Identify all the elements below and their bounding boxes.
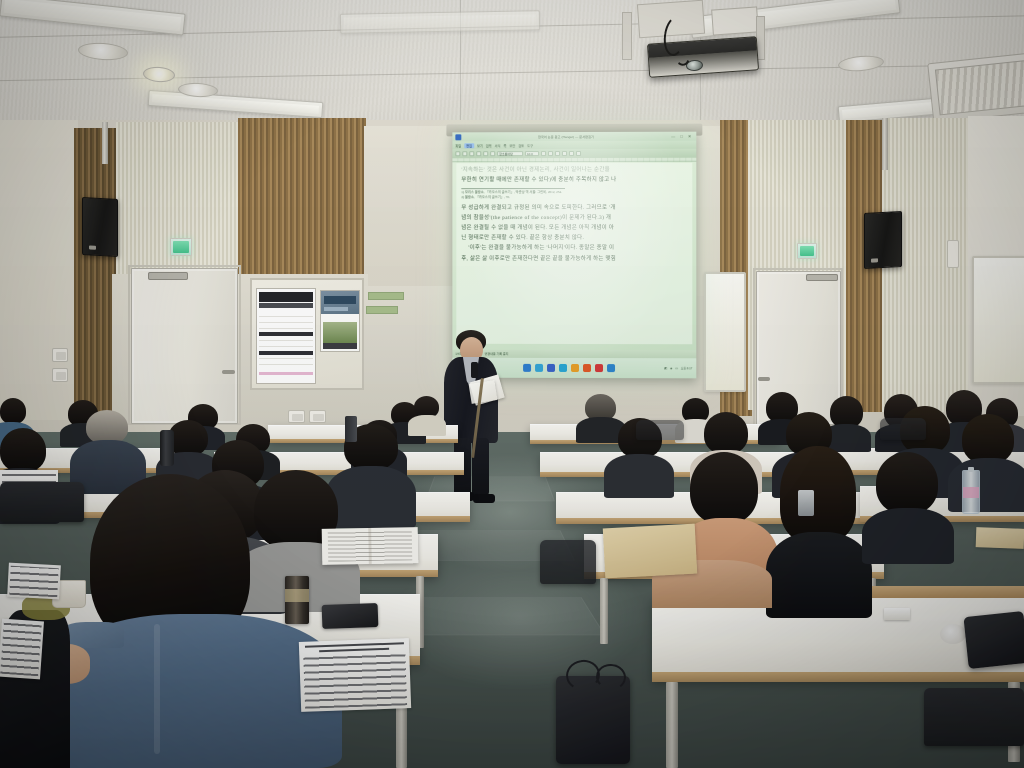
- doc-line: 무한히 연기할 때에만 존재할 수 있다)에 충분히 주목하지 않고 나: [461, 175, 687, 186]
- speaker-pole: [102, 122, 108, 164]
- doc-line: 후, 삶은 삶 이후로만 존재한다면 끝은 끝을 불가능하게 하는 맺힘: [461, 254, 687, 264]
- kraft-envelope: [603, 524, 697, 579]
- attendee-shoulders: [948, 458, 1024, 512]
- wall-plate-right: [947, 240, 959, 268]
- sticky-label: [366, 306, 398, 314]
- crumpled-tissue: [940, 624, 966, 644]
- new-doc-icon[interactable]: [455, 151, 460, 156]
- attendee-hair: [962, 414, 1014, 464]
- chair[interactable]: [0, 482, 84, 522]
- projector-mount-plate: [711, 6, 759, 35]
- microphone: [471, 362, 478, 378]
- door-handle-left[interactable]: [222, 370, 235, 374]
- attendee-hair: [86, 410, 128, 444]
- battery-icon[interactable]: ▭: [675, 366, 678, 370]
- shoulder-bag: [963, 611, 1024, 669]
- desk-leg: [666, 682, 678, 768]
- font-family-select[interactable]: 함초롬바탕: [497, 151, 523, 156]
- attendee-shoulders: [604, 454, 674, 498]
- footnote: 2) 블랑쇼, 「카오스의 글쓰기」, 70.: [461, 195, 687, 200]
- black-tumbler: [345, 416, 357, 442]
- chrome-icon[interactable]: [583, 364, 591, 372]
- doc-line: 념의 참을성'(the patience of the concept)이 문제…: [461, 213, 687, 223]
- wall-outlet[interactable]: [52, 348, 68, 362]
- print-icon[interactable]: [476, 151, 481, 156]
- air-conditioner-vent: [927, 51, 1024, 123]
- wall-outlet[interactable]: [309, 410, 326, 423]
- attendee-hair: [876, 452, 938, 514]
- wall-outlet[interactable]: [52, 368, 68, 382]
- ruler: [452, 158, 696, 163]
- lecture-hall-photo: 한국어 논문 원고 (Hangul) — 문서편집기 — □ ✕ 파일 편집 보…: [0, 0, 1024, 768]
- open-book: [322, 527, 419, 565]
- printed-handout: [299, 638, 411, 712]
- taskbar-clock[interactable]: 오후 8:17: [681, 366, 692, 370]
- door-handle-right[interactable]: [758, 377, 770, 381]
- app-logo-icon: [455, 134, 461, 140]
- water-bottle: [962, 470, 980, 514]
- menu-item-7[interactable]: 검토: [518, 143, 524, 148]
- menu-item-6[interactable]: 보안: [509, 143, 515, 148]
- menu-item-2[interactable]: 보기: [477, 143, 483, 148]
- doc-line: 념은 완결될 수 없을 때 개념이 된다. 모든 개념은 아직 개념이 아: [461, 223, 687, 233]
- desk-leg: [600, 578, 608, 644]
- align-center-icon[interactable]: [569, 151, 574, 156]
- kraft-envelope: [976, 527, 1024, 549]
- plastic-cup: [798, 490, 814, 516]
- speaker-pole: [882, 118, 888, 170]
- attendee-hair: [780, 446, 856, 542]
- wall-panel-wood: [238, 118, 366, 290]
- menu-item-0[interactable]: 파일: [455, 143, 461, 148]
- whiteboard-right[interactable]: [704, 272, 746, 392]
- wall-panel-striped: [116, 122, 240, 282]
- document-page[interactable]: '지속하는' 것은 사건이 아닌 경제논리, 사건이 일어나는 순간을 무한히 …: [456, 163, 692, 344]
- doc-line: 무 성급하게 완결되고 규정된 의미 속으로 도피한다. 그러므로 '개: [461, 202, 687, 212]
- redo-icon[interactable]: [490, 151, 495, 156]
- attendee-hair: [704, 412, 748, 454]
- coffee-can: [285, 576, 309, 624]
- black-tumbler: [160, 430, 174, 466]
- undo-icon[interactable]: [483, 151, 488, 156]
- wall-outlet[interactable]: [288, 410, 305, 423]
- store-icon[interactable]: [547, 364, 555, 372]
- door-closer: [806, 274, 838, 281]
- whiteboard-eraser: [884, 608, 910, 620]
- menu-item-selected[interactable]: 편집: [464, 143, 474, 148]
- font-size-select[interactable]: 10.0: [525, 151, 539, 156]
- presenter-shoe: [473, 494, 495, 503]
- file-explorer-icon[interactable]: [523, 364, 531, 372]
- door-closer: [148, 272, 188, 280]
- classroom-door-left[interactable]: [131, 268, 238, 424]
- chair[interactable]: [636, 420, 684, 440]
- menu-item-5[interactable]: 쪽: [504, 143, 507, 148]
- smartphone[interactable]: [322, 603, 379, 629]
- attendee-hair: [168, 420, 208, 456]
- text-color-icon[interactable]: [576, 151, 581, 156]
- footnote-separator: [461, 188, 565, 189]
- menu-item-4[interactable]: 서식: [495, 143, 501, 148]
- open-icon[interactable]: [462, 151, 467, 156]
- chair[interactable]: [540, 540, 596, 584]
- doc-line: 닌 형태로만 존재할 수 있다. 끝은 항상 충분치 않다.: [461, 233, 687, 243]
- event-poster: [320, 290, 360, 352]
- network-icon[interactable]: ◩: [664, 366, 667, 370]
- save-icon[interactable]: [469, 151, 474, 156]
- underline-icon[interactable]: [555, 151, 560, 156]
- volume-icon[interactable]: ◈: [670, 366, 672, 370]
- schedule-poster: [256, 288, 316, 384]
- backpack-on-floor: [556, 676, 630, 764]
- chair[interactable]: [880, 418, 926, 440]
- align-left-icon[interactable]: [562, 151, 567, 156]
- attendee-hair: [0, 428, 46, 472]
- wall-speaker-right: [864, 211, 902, 269]
- attendee-hair: [690, 452, 758, 524]
- office-icon[interactable]: [595, 364, 603, 372]
- whiteboard-far-right[interactable]: [972, 256, 1024, 384]
- mail-icon[interactable]: [559, 364, 567, 372]
- wall-panel-plain: [364, 126, 460, 294]
- doc-line: '지속하는' 것은 사건이 아닌 경제논리, 사건이 일어나는 순간을: [461, 165, 687, 176]
- fluorescent-troffer: [340, 10, 540, 33]
- italic-icon[interactable]: [548, 151, 553, 156]
- attendee-hair: [0, 398, 26, 424]
- hwp-icon[interactable]: [571, 364, 579, 372]
- attendee-shoulders: [326, 466, 416, 528]
- media-icon[interactable]: [607, 364, 615, 372]
- wall-speaker-left: [82, 197, 118, 257]
- edge-icon[interactable]: [535, 364, 543, 372]
- menu-item-3[interactable]: 입력: [486, 143, 492, 148]
- printed-handout: [0, 619, 44, 680]
- attendee-shoulders: [862, 508, 954, 564]
- bold-icon[interactable]: [541, 151, 546, 156]
- paper-sheet: [7, 563, 61, 600]
- window-title: 한국어 논문 원고 (Hangul) — 문서편집기: [463, 134, 669, 140]
- attendee-shoulders: [408, 415, 446, 436]
- sticky-label: [368, 292, 404, 300]
- chair[interactable]: [924, 688, 1024, 746]
- menu-item-8[interactable]: 도구: [527, 143, 533, 148]
- shirt-seam: [154, 624, 160, 754]
- projector-mount-arm: [622, 12, 632, 60]
- exit-sign-right: [797, 243, 817, 259]
- doc-line: '이후'는 완결을 불가능하게 하는 '나머지'이다. 종말은 종말 이: [461, 243, 687, 253]
- desk-edge: [652, 672, 1024, 682]
- attendee-jacket: [766, 532, 872, 618]
- exit-sign-left: [170, 238, 192, 256]
- window-buttons[interactable]: — □ ✕: [671, 134, 693, 139]
